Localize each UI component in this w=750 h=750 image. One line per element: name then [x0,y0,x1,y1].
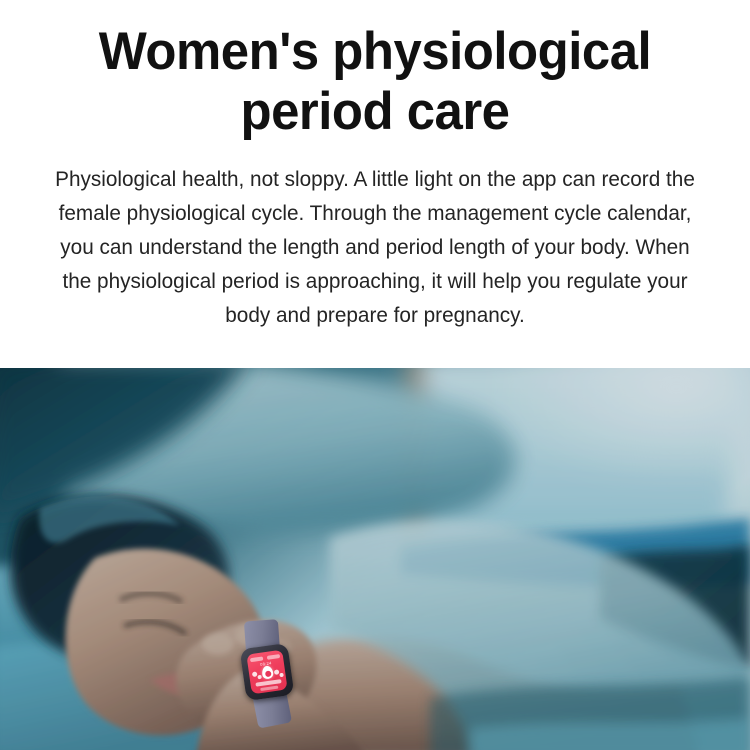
watch-case: 08:24 [240,643,295,701]
watch-decor-dot [257,675,262,680]
page-title-line-2: period care [30,82,719,142]
page-title-line-1: Women's physiological [99,22,651,81]
text-block: Women's physiological period care Physio… [0,0,750,368]
blood-drop-icon [261,665,274,679]
smartwatch: 08:24 [240,643,295,701]
watch-decor-dot [279,673,284,678]
product-feature-card: Women's physiological period care Physio… [0,0,750,750]
watch-cycle-sublabel [260,686,278,691]
watch-screen[interactable]: 08:24 [246,650,287,695]
hero-photo: 08:24 [0,368,750,750]
page-title: Women's physiological period care [30,0,719,142]
description-paragraph: Physiological health, not sloppy. A litt… [29,142,722,332]
photo-scene [0,368,750,750]
